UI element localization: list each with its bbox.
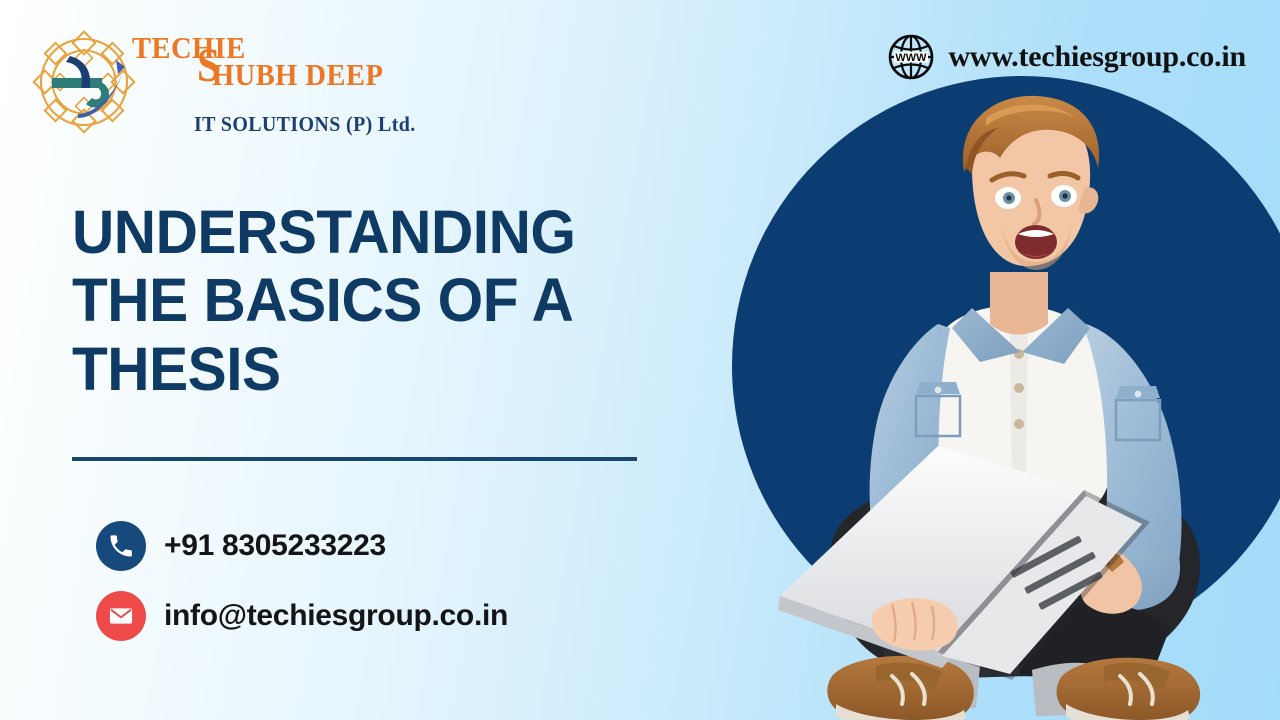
website-row[interactable]: WWW www.techiesgroup.co.in: [888, 34, 1246, 80]
company-logo: TECHIE S HUBH DEEP IT SOLUTIONS (P) Ltd.: [32, 26, 392, 144]
email-address[interactable]: info@techiesgroup.co.in: [164, 599, 508, 633]
logo-text-shubhdeep: HUBH DEEP: [212, 57, 383, 93]
surprised-man-with-laptop-photo: [680, 76, 1280, 720]
logo-wordmark: TECHIE S HUBH DEEP IT SOLUTIONS (P) Ltd.: [104, 26, 394, 144]
globe-www-icon: WWW: [888, 34, 934, 80]
contact-list: +91 8305233223 info@techiesgroup.co.in: [96, 521, 508, 661]
svg-text:WWW: WWW: [896, 52, 928, 64]
hero-visual: [680, 76, 1280, 720]
website-url[interactable]: www.techiesgroup.co.in: [948, 40, 1246, 74]
page-title: UNDERSTANDING THE BASICS OF A THESIS: [72, 198, 629, 403]
title-divider: [72, 457, 637, 461]
contact-email-row[interactable]: info@techiesgroup.co.in: [96, 591, 508, 641]
phone-number[interactable]: +91 8305233223: [164, 529, 386, 563]
logo-tagline: IT SOLUTIONS (P) Ltd.: [194, 112, 416, 137]
envelope-icon: [96, 591, 146, 641]
phone-icon: [96, 521, 146, 571]
promo-banner: TECHIE S HUBH DEEP IT SOLUTIONS (P) Ltd.…: [0, 0, 1280, 720]
contact-phone-row[interactable]: +91 8305233223: [96, 521, 508, 571]
